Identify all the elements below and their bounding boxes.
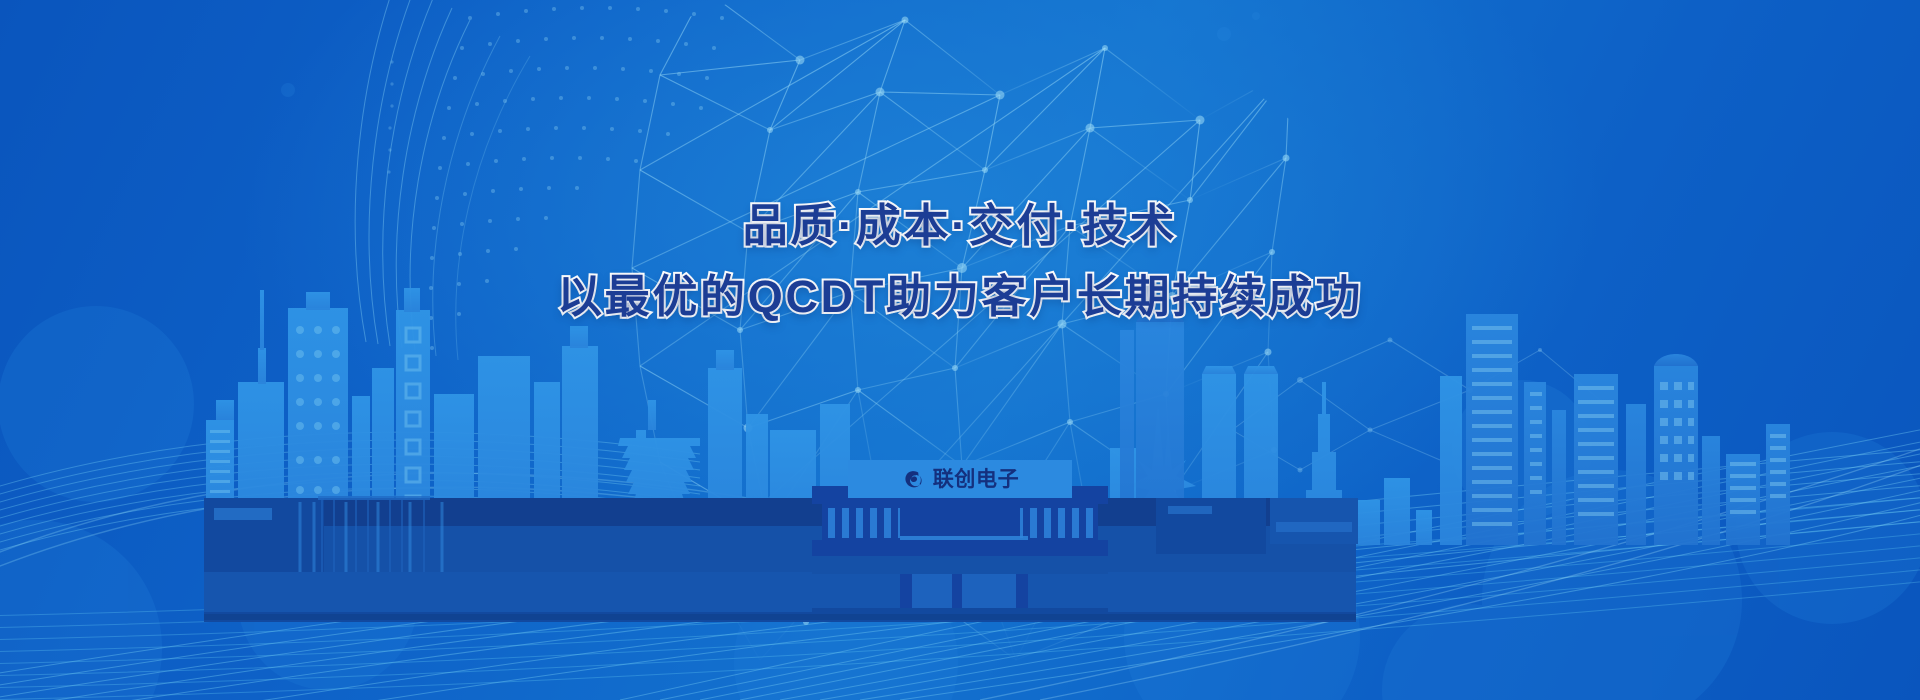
headline-block: 品质·成本·交付·技术 以最优的QCDT助力客户长期持续成功 [0, 196, 1920, 327]
headline-line-2: 以最优的QCDT助力客户长期持续成功 [0, 267, 1920, 326]
company-logo-text: 联创电子 [933, 469, 1020, 490]
flowing-lines-pattern [0, 0, 1920, 700]
company-logo-sign: 联创电子 [848, 460, 1072, 498]
headline-line-1: 品质·成本·交付·技术 [0, 196, 1920, 255]
spiral-swirl-icon [901, 467, 926, 492]
hero-banner: 联创电子 [0, 0, 1920, 700]
globe-network-icon [0, 0, 1920, 700]
city-skyline-silhouette [0, 0, 1920, 700]
headline-line-1-text: 品质·成本·交付·技术 [743, 196, 1178, 255]
bokeh-circles-layer [0, 0, 1920, 700]
mesh-accent-right [0, 0, 1920, 700]
headline-line-2-text: 以最优的QCDT助力客户长期持续成功 [557, 267, 1363, 326]
foreground-base-layer [0, 0, 1920, 700]
